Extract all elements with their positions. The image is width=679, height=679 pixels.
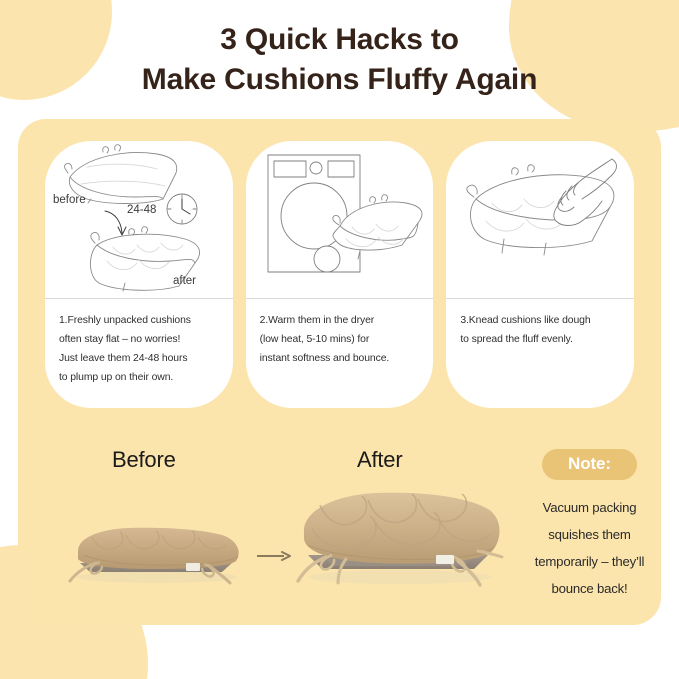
steps-row: before 24-48 bbox=[45, 141, 634, 408]
step-1-text: 1.Freshly unpacked cushions often stay f… bbox=[45, 299, 233, 408]
step-2-text-line: 2.Warm them in the dryer bbox=[260, 311, 420, 330]
after-label: After bbox=[357, 447, 402, 473]
page-title: 3 Quick Hacks to Make Cushions Fluffy Ag… bbox=[0, 20, 679, 100]
step-1-before-label: before bbox=[53, 194, 86, 206]
note-text-line: Vacuum packing bbox=[512, 494, 667, 521]
right-arrow-icon bbox=[257, 551, 291, 561]
fluffy-cushion-photo bbox=[290, 485, 510, 587]
note-text-line: temporarily – they’ll bbox=[512, 548, 667, 575]
step-1-text-line: Just leave them 24-48 hours bbox=[59, 349, 219, 368]
step-panel-1: before 24-48 bbox=[45, 141, 233, 408]
step-1-text-line: to plump up on their own. bbox=[59, 368, 219, 387]
step-1-duration-label: 24-48 bbox=[127, 204, 156, 216]
page-title-line-1: 3 Quick Hacks to bbox=[0, 20, 679, 60]
step-2-illustration bbox=[246, 141, 434, 298]
infographic-canvas: 3 Quick Hacks to Make Cushions Fluffy Ag… bbox=[0, 0, 679, 679]
before-after-comparison: Before After bbox=[52, 447, 512, 617]
note-block: Note: Vacuum packing squishes them tempo… bbox=[512, 449, 667, 602]
step-3-text: 3.Knead cushions like dough to spread th… bbox=[446, 299, 634, 408]
flat-cushion-photo bbox=[62, 515, 252, 587]
main-content-card: before 24-48 bbox=[18, 119, 661, 625]
step-2-text-line: (low heat, 5-10 mins) for bbox=[260, 330, 420, 349]
note-text-line: bounce back! bbox=[512, 575, 667, 602]
step-3-text-line: to spread the fluff evenly. bbox=[460, 330, 620, 349]
note-text-line: squishes them bbox=[512, 521, 667, 548]
step-3-text-line: 3.Knead cushions like dough bbox=[460, 311, 620, 330]
page-title-line-2: Make Cushions Fluffy Again bbox=[0, 60, 679, 100]
step-3-illustration bbox=[446, 141, 634, 298]
step-2-text-line: instant softness and bounce. bbox=[260, 349, 420, 368]
note-body: Vacuum packing squishes them temporarily… bbox=[512, 494, 667, 602]
step-2-text: 2.Warm them in the dryer (low heat, 5-10… bbox=[246, 299, 434, 408]
step-panel-3: 3.Knead cushions like dough to spread th… bbox=[446, 141, 634, 408]
step-1-text-line: often stay flat – no worries! bbox=[59, 330, 219, 349]
before-label: Before bbox=[112, 447, 176, 473]
step-1-text-line: 1.Freshly unpacked cushions bbox=[59, 311, 219, 330]
note-badge: Note: bbox=[542, 449, 637, 480]
step-panel-2: 2.Warm them in the dryer (low heat, 5-10… bbox=[246, 141, 434, 408]
step-1-after-label: after bbox=[173, 275, 196, 287]
step-1-illustration: before 24-48 bbox=[45, 141, 233, 298]
